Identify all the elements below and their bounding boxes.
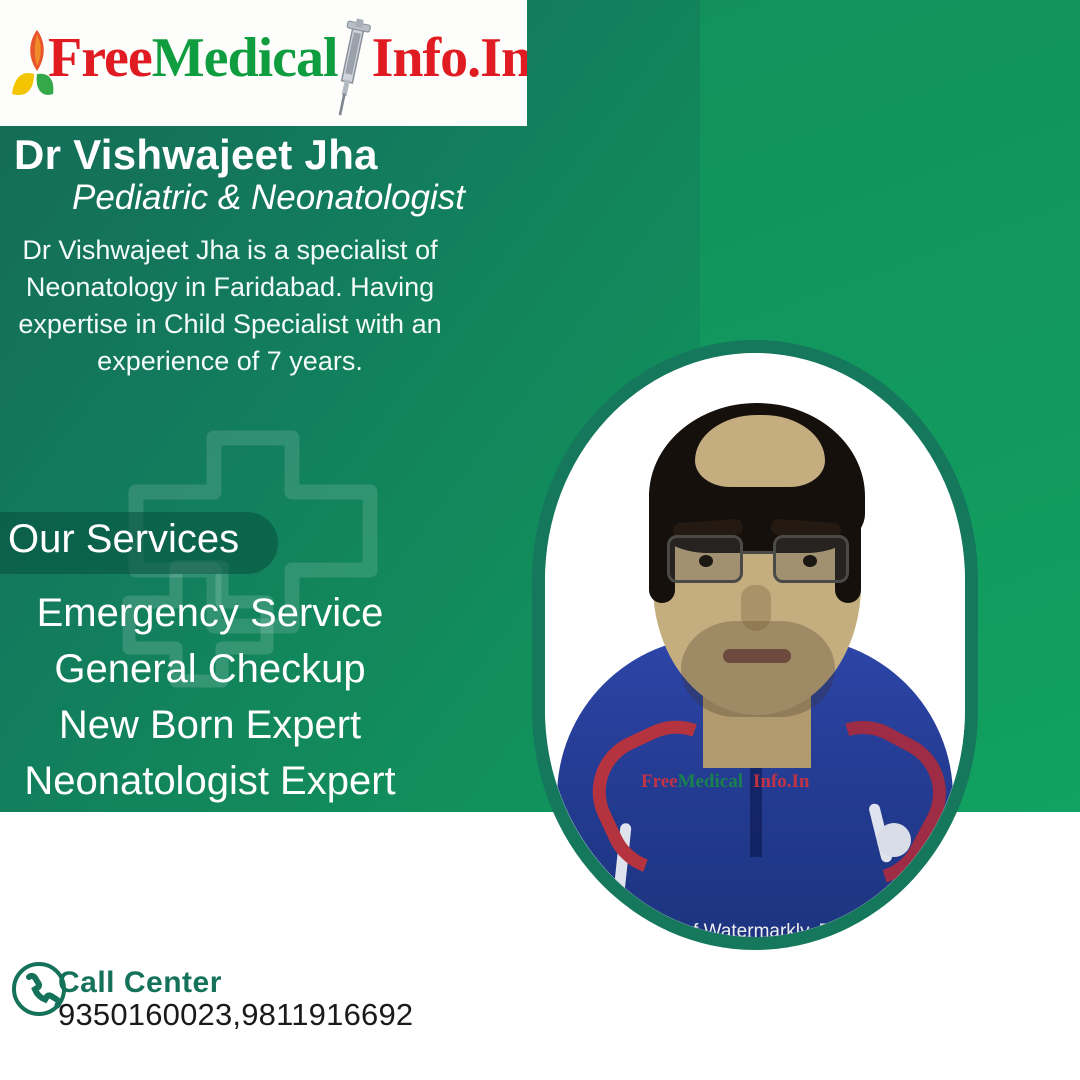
- doctor-specialty: Pediatric & Neonatologist: [72, 178, 465, 218]
- call-center-label: Call Center: [58, 966, 222, 1000]
- watermark-word-info: Info.In: [753, 771, 810, 792]
- service-item: General Checkup: [0, 641, 420, 697]
- mouth: [723, 649, 791, 663]
- doctor-photo-frame: FreeMedicalInfo.In ...rsion of Watermark…: [532, 340, 978, 950]
- photo-watermark-logo: FreeMedicalInfo.In: [641, 771, 810, 793]
- doctor-name: Dr Vishwajeet Jha: [14, 131, 378, 179]
- poster-canvas: FreeMedicalInfo.In Dr Vishwajeet Jha Ped…: [0, 0, 1080, 1080]
- eye-right: [803, 555, 817, 567]
- service-item: New Born Expert: [0, 697, 420, 753]
- services-list: Emergency Service General Checkup New Bo…: [0, 585, 420, 809]
- watermarkly-notice: ...rsion of Watermarkly. Full version: [545, 921, 965, 937]
- watermarkly-brand: Pl: [865, 905, 893, 937]
- eyeglasses-icon: [667, 535, 849, 589]
- watermark-word-medical: Medical: [678, 771, 743, 792]
- nose: [741, 585, 771, 631]
- brand-logo-box[interactable]: FreeMedicalInfo.In: [0, 0, 527, 126]
- eye-left: [699, 555, 713, 567]
- services-heading: Our Services: [8, 517, 239, 562]
- watermark-word-free: Free: [641, 771, 678, 792]
- brand-logo-wordmark: FreeMedicalInfo.In: [48, 30, 527, 86]
- service-item: Emergency Service: [0, 585, 420, 641]
- call-center-numbers[interactable]: 9350160023,9811916692: [58, 997, 413, 1033]
- logo-word-medical: Medical: [152, 27, 338, 89]
- stethoscope-bell: [877, 823, 911, 857]
- doctor-description: Dr Vishwajeet Jha is a specialist of Neo…: [0, 232, 460, 380]
- beard-shadow: [681, 621, 835, 717]
- service-item: Neonatologist Expert: [0, 753, 420, 809]
- glasses-bridge: [743, 551, 773, 554]
- syringe-icon: [325, 18, 373, 126]
- logo-word-free: Free: [48, 27, 152, 89]
- brand-logo-inner: FreeMedicalInfo.In: [10, 16, 520, 116]
- logo-word-info: Info.In: [372, 27, 527, 89]
- doctor-photo: FreeMedicalInfo.In ...rsion of Watermark…: [545, 353, 965, 937]
